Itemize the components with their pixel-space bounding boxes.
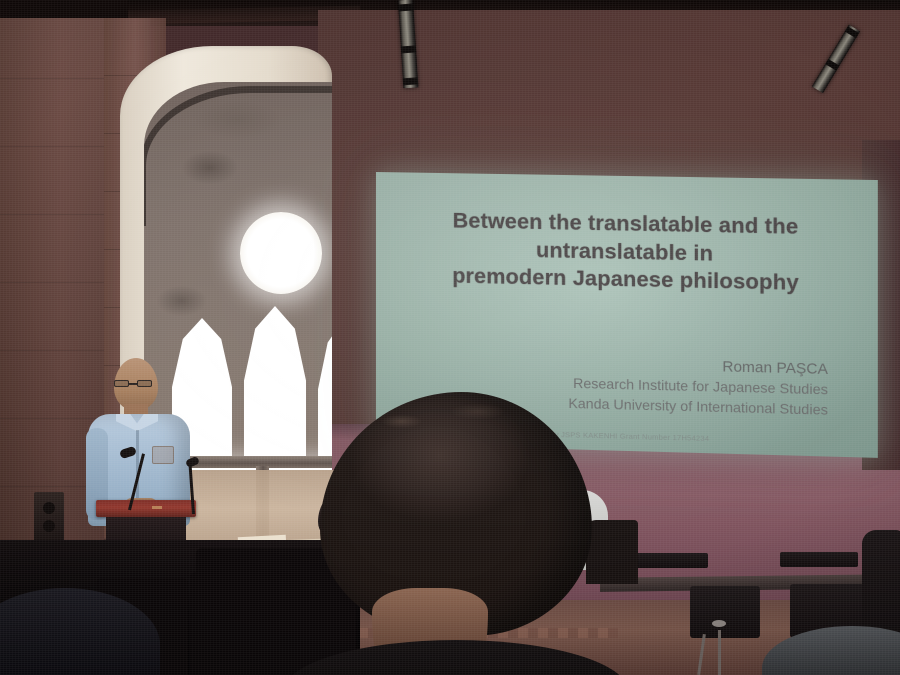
- chair-row: [190, 572, 282, 675]
- foreground-shirt: [284, 640, 628, 675]
- window-oculus-icon: [240, 212, 322, 294]
- slide-title: Between the translatable and the untrans…: [406, 207, 847, 299]
- audience-member-foreground: [320, 392, 592, 675]
- chair-leg: [718, 630, 721, 675]
- speaker-shirt-pocket: [152, 446, 174, 464]
- chair-seat: [690, 586, 760, 638]
- chair-back: [780, 552, 858, 567]
- glasses-icon: [113, 380, 155, 387]
- chair-armrest-knob: [712, 620, 726, 627]
- podium-top: [96, 500, 196, 517]
- audience-member-dark-shoulder: [586, 520, 638, 584]
- slide-spacer: [406, 289, 847, 359]
- conference-room-photo: Between the translatable and the untrans…: [0, 0, 900, 675]
- chair-back: [632, 553, 708, 568]
- podium-nameplate: [152, 506, 162, 509]
- loudspeaker-icon: [34, 492, 64, 542]
